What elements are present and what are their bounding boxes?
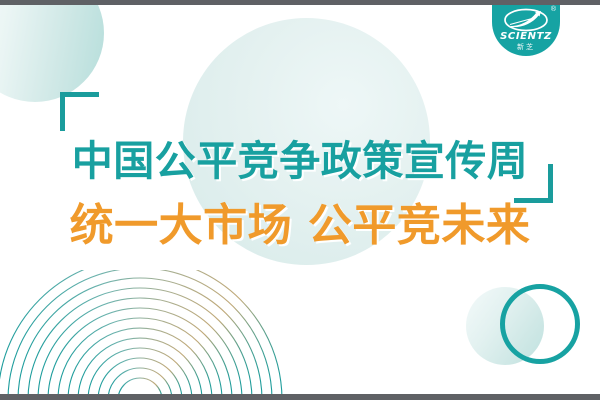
scientz-swoosh-emblem-icon <box>502 8 550 32</box>
promotional-poster: 中国公平竞争政策宣传周 统一大市场 公平竞未来 ® SCIENTZ 新芝 <box>0 0 600 400</box>
headline-secondary: 统一大市场 公平竞未来 <box>0 203 600 249</box>
brand-chinese-name: 新芝 <box>492 42 560 52</box>
teal-outline-ring <box>500 284 580 364</box>
registered-trademark-mark: ® <box>551 6 556 13</box>
headline-block: 中国公平竞争政策宣传周 统一大市场 公平竞未来 <box>0 140 600 248</box>
gradient-quarter-circle <box>0 0 104 102</box>
bottom-edge-bar <box>0 394 600 400</box>
top-edge-bar <box>0 0 600 5</box>
corner-bracket-top-left <box>60 92 99 131</box>
brand-logo[interactable]: ® SCIENTZ 新芝 <box>492 4 560 56</box>
concentric-arc-fan <box>0 270 290 400</box>
headline-primary: 中国公平竞争政策宣传周 <box>0 140 600 183</box>
brand-wordmark: SCIENTZ <box>492 31 560 42</box>
